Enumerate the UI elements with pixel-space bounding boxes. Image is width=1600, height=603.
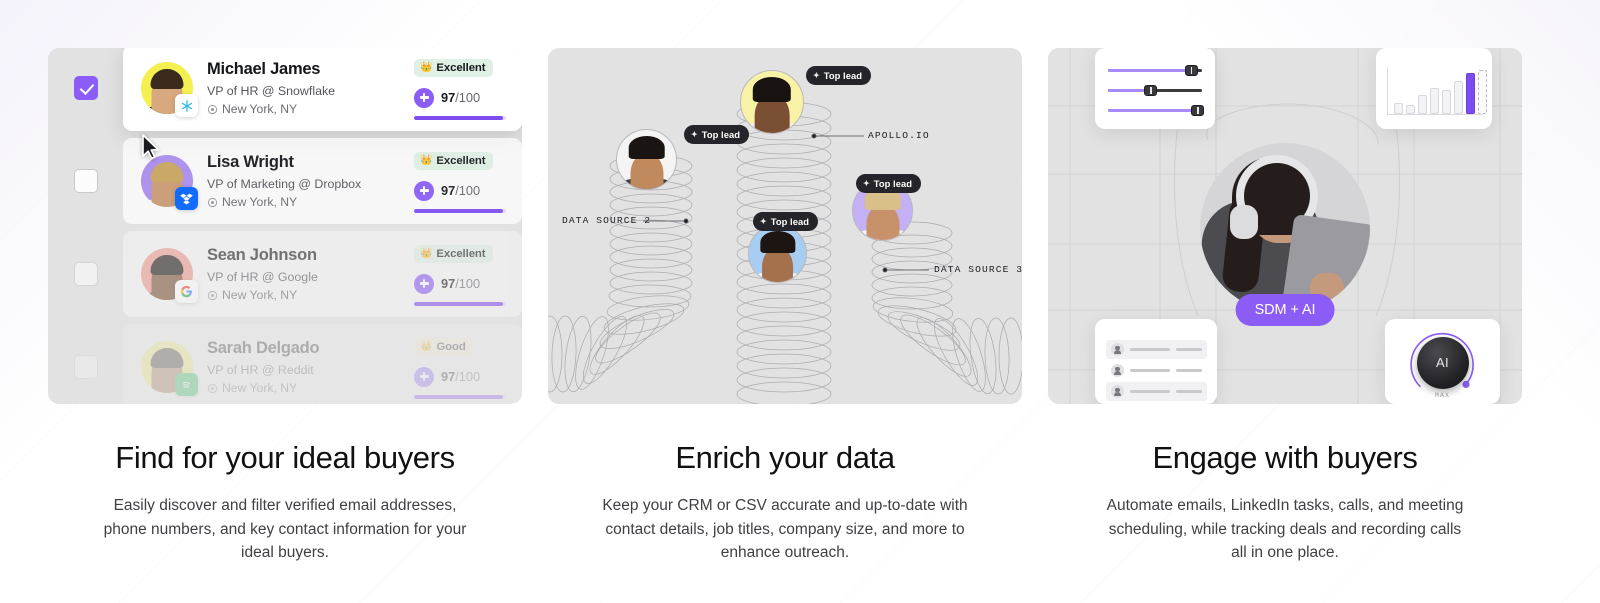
score-value: 97/100 xyxy=(441,90,480,105)
plus-circle-icon xyxy=(414,88,434,108)
slider-fill xyxy=(1108,69,1191,72)
crown-icon: 👑 xyxy=(420,63,432,73)
lead-row[interactable]: Sean Johnson VP of HR @ Google New York,… xyxy=(74,231,522,317)
feature-enrich-data: ✦ Top lead ✦ Top lead ✦ Top lead ✦ Top l… xyxy=(548,48,1022,565)
feature-find-buyers: Michael James VP of HR @ Snowflake New Y… xyxy=(48,48,522,565)
lead-location-text: New York, NY xyxy=(222,195,297,210)
lead-name: Lisa Wright xyxy=(207,152,400,173)
crown-icon: 👑 xyxy=(420,249,432,259)
feature-description: Easily discover and filter verified emai… xyxy=(99,494,471,565)
source-label-data-source-2: DATA SOURCE 2 xyxy=(562,215,651,226)
feature-1-media: Michael James VP of HR @ Snowflake New Y… xyxy=(48,48,522,404)
chart-bar-target xyxy=(1478,70,1487,114)
plus-circle-icon xyxy=(414,274,434,294)
status-badge: 👑 Excellent xyxy=(414,245,493,263)
feature-2-media: ✦ Top lead ✦ Top lead ✦ Top lead ✦ Top l… xyxy=(548,48,1022,404)
lead-card[interactable]: Sean Johnson VP of HR @ Google New York,… xyxy=(123,231,522,317)
source-label-data-source-3: DATA SOURCE 3 xyxy=(934,264,1022,275)
plus-circle-icon xyxy=(414,367,434,387)
lead-name: Sean Johnson xyxy=(207,245,400,266)
sparkle-icon: ✦ xyxy=(863,179,870,188)
lead-name: Sarah Delgado xyxy=(207,338,400,359)
score-progress-bar xyxy=(414,116,506,120)
person-icon xyxy=(1111,364,1124,377)
mouse-cursor-icon xyxy=(141,134,161,160)
person-icon xyxy=(1111,343,1124,356)
list-item[interactable] xyxy=(1106,382,1207,401)
avatar xyxy=(616,129,677,190)
chart-bar xyxy=(1430,88,1439,114)
score-value: 97/100 xyxy=(441,276,480,291)
lead-location-text: New York, NY xyxy=(222,288,297,303)
slider-handle[interactable] xyxy=(1191,105,1204,116)
avatar xyxy=(141,155,193,207)
placeholder-bar xyxy=(1176,390,1202,393)
slider-fill xyxy=(1108,109,1197,112)
score-value: 97/100 xyxy=(441,183,480,198)
engagement-graphic: SDM + AI xyxy=(1048,48,1522,404)
placeholder-bar xyxy=(1130,390,1170,393)
features-section: Michael James VP of HR @ Snowflake New Y… xyxy=(0,0,1600,565)
dropbox-logo-icon xyxy=(175,187,198,210)
lead-location: New York, NY xyxy=(207,288,400,303)
lead-card[interactable]: Sarah Delgado VP of HR @ Reddit New York… xyxy=(123,324,522,404)
top-lead-label: Top lead xyxy=(702,129,740,140)
chart-bar xyxy=(1442,90,1451,114)
slider-row[interactable] xyxy=(1108,85,1202,96)
lead-info: Sarah Delgado VP of HR @ Reddit New York… xyxy=(207,338,400,396)
lead-title: VP of HR @ Google xyxy=(207,270,400,285)
sparkle-icon: ✦ xyxy=(760,217,767,226)
lead-score: 👑 Excellent 97/100 xyxy=(414,150,506,213)
lead-card[interactable]: Michael James VP of HR @ Snowflake New Y… xyxy=(123,48,522,131)
top-lead-label: Top lead xyxy=(824,70,862,81)
page-title: Find for your ideal buyers xyxy=(68,440,502,476)
lead-list: Michael James VP of HR @ Snowflake New Y… xyxy=(48,48,522,404)
location-pin-icon xyxy=(207,290,218,301)
feature-3-media: SDM + AI xyxy=(1048,48,1522,404)
status-badge: 👑 Excellent xyxy=(414,59,493,77)
lead-title: VP of HR @ Snowflake xyxy=(207,84,400,99)
rating-label: Good xyxy=(436,341,465,353)
lead-score: 👑 Good 97/100 xyxy=(414,336,506,399)
score-line: 97/100 xyxy=(414,367,506,387)
placeholder-bar xyxy=(1130,348,1170,351)
avatar xyxy=(141,248,193,300)
chart-y-axis xyxy=(1387,67,1388,115)
page-title: Engage with buyers xyxy=(1068,440,1502,476)
sliders-card xyxy=(1095,48,1215,129)
score-progress-bar xyxy=(414,302,506,306)
lead-location-text: New York, NY xyxy=(222,102,297,117)
lead-score: 👑 Excellent 97/100 xyxy=(414,57,506,120)
sparkle-icon: ✦ xyxy=(813,71,820,80)
score-progress-bar xyxy=(414,209,506,213)
lead-checkbox[interactable] xyxy=(74,76,98,100)
placeholder-bar xyxy=(1176,369,1202,372)
person-icon xyxy=(1111,385,1124,398)
knob-max-label: MAX xyxy=(1385,392,1500,399)
list-item[interactable] xyxy=(1106,340,1207,359)
placeholder-bar xyxy=(1130,369,1170,372)
ai-knob-card: AI MAX xyxy=(1385,319,1500,404)
chart-bar-highlight xyxy=(1466,73,1475,114)
contact-list-card xyxy=(1095,319,1217,404)
status-badge: 👑 Excellent xyxy=(414,152,493,170)
rating-label: Excellent xyxy=(436,155,485,167)
avatar xyxy=(740,70,804,134)
avatar xyxy=(748,224,807,283)
ai-knob[interactable]: AI xyxy=(1417,337,1469,389)
crown-icon: 👑 xyxy=(420,156,432,166)
lead-title: VP of HR @ Reddit xyxy=(207,363,400,378)
lead-score: 👑 Excellent 97/100 xyxy=(414,243,506,306)
status-badge: 👑 Good xyxy=(414,338,474,356)
lead-name: Michael James xyxy=(207,59,400,80)
source-label-apollo: APOLLO.IO xyxy=(868,130,930,141)
lead-location-text: New York, NY xyxy=(222,381,297,396)
chart-bar xyxy=(1418,95,1427,114)
lead-row[interactable]: Michael James VP of HR @ Snowflake New Y… xyxy=(74,48,522,131)
lead-checkbox[interactable] xyxy=(74,355,98,379)
top-lead-badge: ✦ Top lead xyxy=(684,125,749,144)
top-lead-label: Top lead xyxy=(771,216,809,227)
chart-bar xyxy=(1394,103,1403,114)
score-value: 97/100 xyxy=(441,369,480,384)
slider-row[interactable] xyxy=(1108,65,1202,76)
crown-icon: 👑 xyxy=(420,342,432,352)
score-progress-bar xyxy=(414,395,506,399)
slider-handle[interactable] xyxy=(1185,65,1198,76)
rating-label: Excellent xyxy=(436,62,485,74)
feature-2-caption: Enrich your data Keep your CRM or CSV ac… xyxy=(548,440,1022,565)
sdm-ai-badge: SDM + AI xyxy=(1236,294,1335,326)
sparkle-icon: ✦ xyxy=(691,130,698,139)
placeholder-bar xyxy=(1176,348,1202,351)
spotify-logo-icon xyxy=(175,373,198,396)
lead-checkbox[interactable] xyxy=(74,169,98,193)
rating-label: Excellent xyxy=(436,248,485,260)
google-logo-icon xyxy=(175,280,198,303)
feature-description: Automate emails, LinkedIn tasks, calls, … xyxy=(1099,494,1471,565)
page-title: Enrich your data xyxy=(568,440,1002,476)
lead-location: New York, NY xyxy=(207,102,400,117)
lead-info: Michael James VP of HR @ Snowflake New Y… xyxy=(207,59,400,117)
snowflake-logo-icon xyxy=(175,94,198,117)
lead-location: New York, NY xyxy=(207,195,400,210)
avatar xyxy=(141,341,193,393)
lead-info: Lisa Wright VP of Marketing @ Dropbox Ne… xyxy=(207,152,400,210)
enrichment-diagram: ✦ Top lead ✦ Top lead ✦ Top lead ✦ Top l… xyxy=(548,48,1022,404)
top-lead-badge: ✦ Top lead xyxy=(806,66,871,85)
top-lead-badge: ✦ Top lead xyxy=(753,212,818,231)
slider-handle[interactable] xyxy=(1144,85,1157,96)
feature-description: Keep your CRM or CSV accurate and up-to-… xyxy=(599,494,971,565)
lead-title: VP of Marketing @ Dropbox xyxy=(207,177,400,192)
score-line: 97/100 xyxy=(414,274,506,294)
feature-3-caption: Engage with buyers Automate emails, Link… xyxy=(1048,440,1522,565)
location-pin-icon xyxy=(207,197,218,208)
score-line: 97/100 xyxy=(414,181,506,201)
list-item[interactable] xyxy=(1106,361,1207,380)
chart-x-axis xyxy=(1387,114,1483,115)
agent-photo xyxy=(1200,143,1370,313)
bar-chart-card xyxy=(1376,48,1492,129)
location-pin-icon xyxy=(207,104,218,115)
feature-1-caption: Find for your ideal buyers Easily discov… xyxy=(48,440,522,565)
lead-checkbox[interactable] xyxy=(74,262,98,286)
location-pin-icon xyxy=(207,383,218,394)
knob-label: AI xyxy=(1436,355,1449,370)
chart-bar xyxy=(1454,81,1463,114)
avatar xyxy=(141,62,193,114)
lead-location: New York, NY xyxy=(207,381,400,396)
top-lead-label: Top lead xyxy=(874,178,912,189)
lead-card[interactable]: Lisa Wright VP of Marketing @ Dropbox Ne… xyxy=(123,138,522,224)
top-lead-badge: ✦ Top lead xyxy=(856,174,921,193)
feature-engage-buyers: SDM + AI xyxy=(1048,48,1522,565)
plus-circle-icon xyxy=(414,181,434,201)
chart-bar xyxy=(1406,105,1415,114)
score-line: 97/100 xyxy=(414,88,506,108)
lead-row[interactable]: Sarah Delgado VP of HR @ Reddit New York… xyxy=(74,324,522,404)
slider-row[interactable] xyxy=(1108,105,1202,116)
lead-info: Sean Johnson VP of HR @ Google New York,… xyxy=(207,245,400,303)
